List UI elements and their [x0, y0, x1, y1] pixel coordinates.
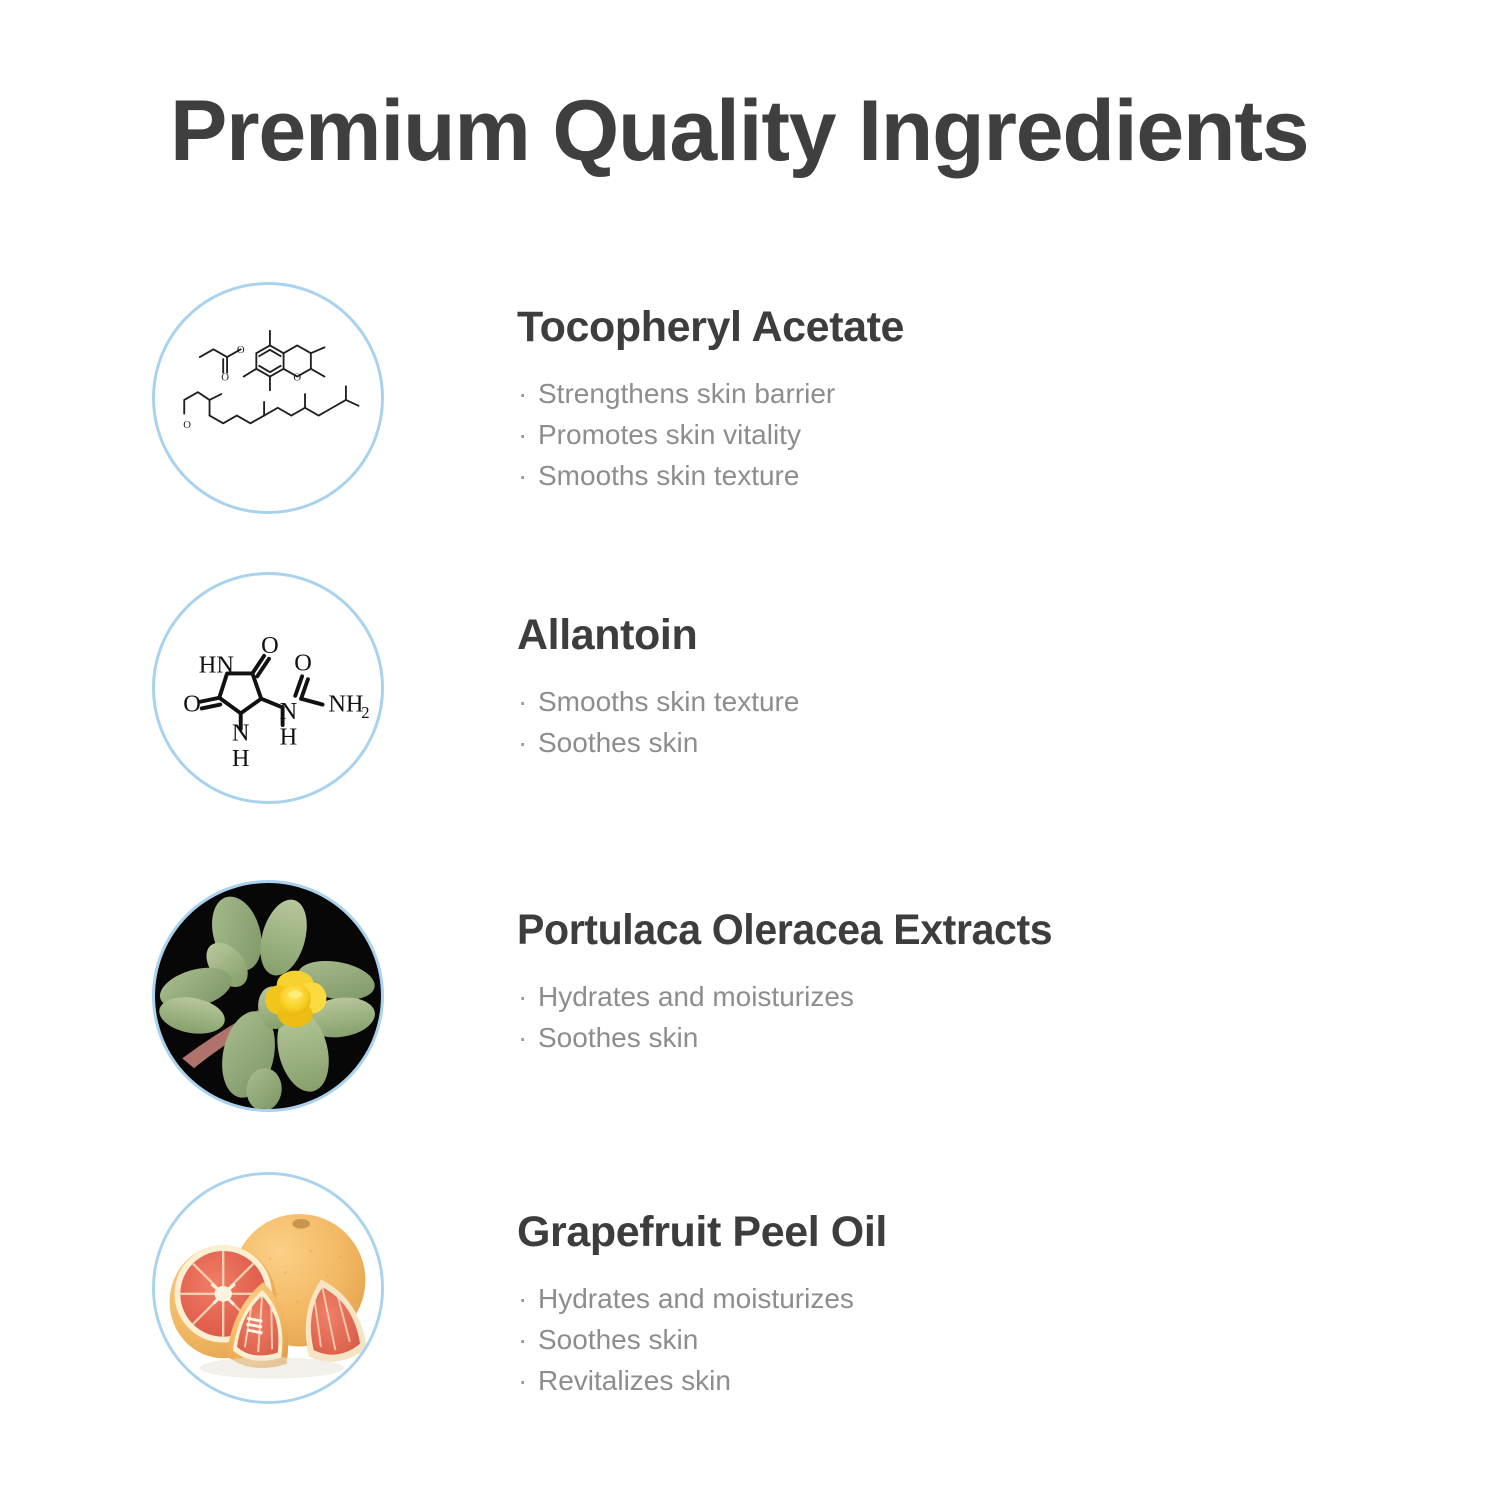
ingredient-title: Allantoin [517, 612, 1457, 658]
benefit-list: · Strengthens skin barrier · Promotes sk… [517, 374, 1457, 497]
bullet-icon: · [518, 682, 527, 723]
svg-text:O: O [183, 690, 201, 717]
benefit-item: · Soothes skin [517, 1320, 1457, 1361]
svg-text:O: O [261, 632, 279, 659]
benefit-label: Soothes skin [538, 727, 698, 758]
svg-text:N: N [232, 720, 250, 747]
benefit-item: · Strengthens skin barrier [517, 374, 1457, 415]
ingredient-title: Grapefruit Peel Oil [517, 1209, 1457, 1255]
allantoin-chemical-structure-icon: HN O O N H N H O NH 2 [155, 575, 381, 801]
grapefruit-photo-circle [152, 1172, 384, 1404]
bullet-icon: · [518, 1320, 527, 1361]
ingredient-text-grapefruit-peel-oil: Grapefruit Peel Oil · Hydrates and moist… [517, 1172, 1457, 1402]
svg-text:O: O [237, 344, 245, 356]
ingredient-title: Portulaca Oleracea Extracts [517, 907, 1415, 953]
svg-text:H: H [232, 745, 250, 772]
bullet-icon: · [518, 977, 527, 1018]
tocopheryl-acetate-structure-circle: O O O O [152, 282, 384, 514]
ingredient-title: Tocopheryl Acetate [517, 304, 1457, 350]
benefit-item: · Revitalizes skin [517, 1361, 1457, 1402]
benefit-item: · Hydrates and moisturizes [517, 977, 1457, 1018]
benefit-item: · Soothes skin [517, 1018, 1457, 1059]
benefit-list: · Hydrates and moisturizes · Soothes ski… [517, 1279, 1457, 1402]
purslane-photo-circle [152, 880, 384, 1112]
svg-text:H: H [280, 724, 298, 751]
benefit-label: Soothes skin [538, 1324, 698, 1355]
benefit-item: · Smooths skin texture [517, 456, 1457, 497]
bullet-icon: · [518, 415, 527, 456]
benefit-item: · Smooths skin texture [517, 682, 1457, 723]
ingredient-text-tocopheryl-acetate: Tocopheryl Acetate · Strengthens skin ba… [517, 282, 1457, 497]
benefit-item: · Soothes skin [517, 723, 1457, 764]
benefit-list: · Smooths skin texture · Soothes skin [517, 682, 1457, 764]
svg-text:O: O [293, 371, 301, 383]
benefit-item: · Promotes skin vitality [517, 415, 1457, 456]
svg-text:2: 2 [361, 703, 369, 722]
svg-text:N: N [280, 698, 298, 725]
benefit-label: Hydrates and moisturizes [538, 1283, 854, 1314]
allantoin-structure-circle: HN O O N H N H O NH 2 [152, 572, 384, 804]
benefit-label: Smooths skin texture [538, 686, 799, 717]
svg-text:O: O [294, 649, 312, 676]
benefit-label: Strengthens skin barrier [538, 378, 835, 409]
bullet-icon: · [518, 1018, 527, 1059]
benefit-label: Promotes skin vitality [538, 419, 801, 450]
page-title: Premium Quality Ingredients [170, 86, 1350, 176]
bullet-icon: · [518, 1279, 527, 1320]
svg-text:O: O [221, 371, 229, 383]
bullet-icon: · [518, 1361, 527, 1402]
ingredients-infographic: Premium Quality Ingredients [0, 0, 1500, 1500]
benefit-label: Hydrates and moisturizes [538, 981, 854, 1012]
ingredient-text-portulaca-oleracea: Portulaca Oleracea Extracts · Hydrates a… [517, 880, 1457, 1059]
bullet-icon: · [518, 456, 527, 497]
bullet-icon: · [518, 374, 527, 415]
svg-text:NH: NH [328, 690, 363, 717]
bullet-icon: · [518, 723, 527, 764]
benefit-item: · Hydrates and moisturizes [517, 1279, 1457, 1320]
tocopheryl-acetate-chemical-structure-icon: O O O O [155, 285, 381, 511]
benefit-label: Revitalizes skin [538, 1365, 731, 1396]
benefit-label: Soothes skin [538, 1022, 698, 1053]
svg-text:O: O [183, 419, 191, 431]
benefit-label: Smooths skin texture [538, 460, 799, 491]
grapefruit-photo-icon [155, 1175, 381, 1401]
ingredient-text-allantoin: Allantoin · Smooths skin texture · Sooth… [517, 572, 1457, 764]
svg-text:HN: HN [199, 651, 235, 678]
benefit-list: · Hydrates and moisturizes · Soothes ski… [517, 977, 1457, 1059]
purslane-plant-photo-icon [155, 883, 381, 1109]
